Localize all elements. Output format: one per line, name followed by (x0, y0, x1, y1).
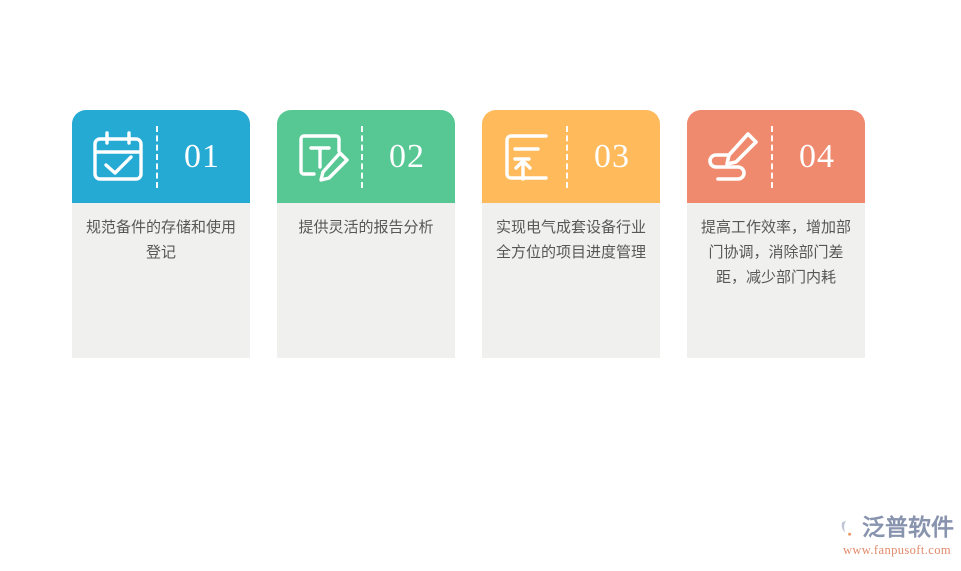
logo-row: 泛普软件 (833, 512, 951, 542)
feature-card-2[interactable]: 02 提供灵活的报告分析 (277, 110, 455, 358)
card-body-2: 提供灵活的报告分析 (277, 203, 455, 358)
card-body-1: 规范备件的存储和使用登记 (72, 203, 250, 358)
card-header-4: 04 (687, 110, 865, 203)
slide-canvas: 01 规范备件的存储和使用登记 02 提供灵活的报告分析 (0, 0, 961, 571)
card-header-1: 01 (72, 110, 250, 203)
card-number-1: 01 (162, 140, 250, 174)
header-divider-2 (361, 126, 363, 188)
header-divider-3 (566, 126, 568, 188)
card-text-2: 提供灵活的报告分析 (291, 215, 441, 240)
brand-url: www.fanpusoft.com (833, 543, 951, 558)
card-header-2: 02 (277, 110, 455, 203)
brand-name: 泛普软件 (862, 514, 954, 541)
document-upload-icon (496, 125, 560, 189)
card-number-3: 03 (572, 140, 660, 174)
feature-card-1[interactable]: 01 规范备件的存储和使用登记 (72, 110, 250, 358)
card-number-2: 02 (367, 140, 455, 174)
card-body-4: 提高工作效率，增加部门协调，消除部门差距，减少部门内耗 (687, 203, 865, 358)
pencil-path-icon (701, 125, 765, 189)
feature-card-4[interactable]: 04 提高工作效率，增加部门协调，消除部门差距，减少部门内耗 (687, 110, 865, 358)
brand-logo: 泛普软件 www.fanpusoft.com (833, 512, 951, 559)
card-header-3: 03 (482, 110, 660, 203)
card-text-4: 提高工作效率，增加部门协调，消除部门差距，减少部门内耗 (701, 215, 851, 290)
header-divider-1 (156, 126, 158, 188)
card-number-4: 04 (777, 140, 865, 174)
card-text-1: 规范备件的存储和使用登记 (86, 215, 236, 265)
card-body-3: 实现电气成套设备行业全方位的项目进度管理 (482, 203, 660, 358)
card-text-3: 实现电气成套设备行业全方位的项目进度管理 (496, 215, 646, 265)
fanpu-logo-mark-icon (833, 514, 860, 541)
text-edit-icon (291, 125, 355, 189)
calendar-check-icon (86, 125, 150, 189)
feature-card-3[interactable]: 03 实现电气成套设备行业全方位的项目进度管理 (482, 110, 660, 358)
header-divider-4 (771, 126, 773, 188)
